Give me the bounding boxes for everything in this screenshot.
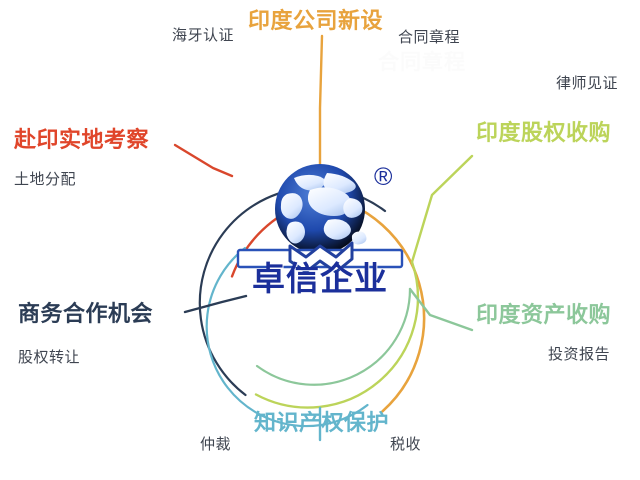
node-label-business-cooperation[interactable]: 商务合作机会 <box>18 303 153 325</box>
connector-equity-acquisition <box>412 156 472 262</box>
connector-site-visit <box>175 145 232 176</box>
connector-asset-acquisition <box>410 289 472 330</box>
label-arbitration: 仲裁 <box>200 437 231 452</box>
diagram-canvas: 卓信企业 ® 合同章程 海牙认证 印度公司新设 合同章程 律师见证 赴印实地考察… <box>0 0 640 480</box>
node-label-asset-acquisition[interactable]: 印度资产收购 <box>476 304 611 326</box>
brand-name: 卓信企业 <box>232 262 408 295</box>
registered-trademark-icon: ® <box>374 165 392 190</box>
label-contract-articles: 合同章程 <box>398 30 460 45</box>
label-hague-certification: 海牙认证 <box>172 28 234 43</box>
label-equity-transfer: 股权转让 <box>18 350 80 365</box>
label-investment-report: 投资报告 <box>548 347 610 362</box>
node-label-equity-acquisition[interactable]: 印度股权收购 <box>476 122 611 144</box>
label-lawyer-witness: 律师见证 <box>556 76 618 91</box>
label-tax: 税收 <box>390 437 421 452</box>
watermark-text: 合同章程 <box>378 52 466 73</box>
node-label-new-company[interactable]: 印度公司新设 <box>248 10 383 32</box>
node-label-ip-protection[interactable]: 知识产权保护 <box>254 412 389 434</box>
label-land-allocation: 土地分配 <box>14 172 76 187</box>
node-label-site-visit[interactable]: 赴印实地考察 <box>14 129 149 151</box>
